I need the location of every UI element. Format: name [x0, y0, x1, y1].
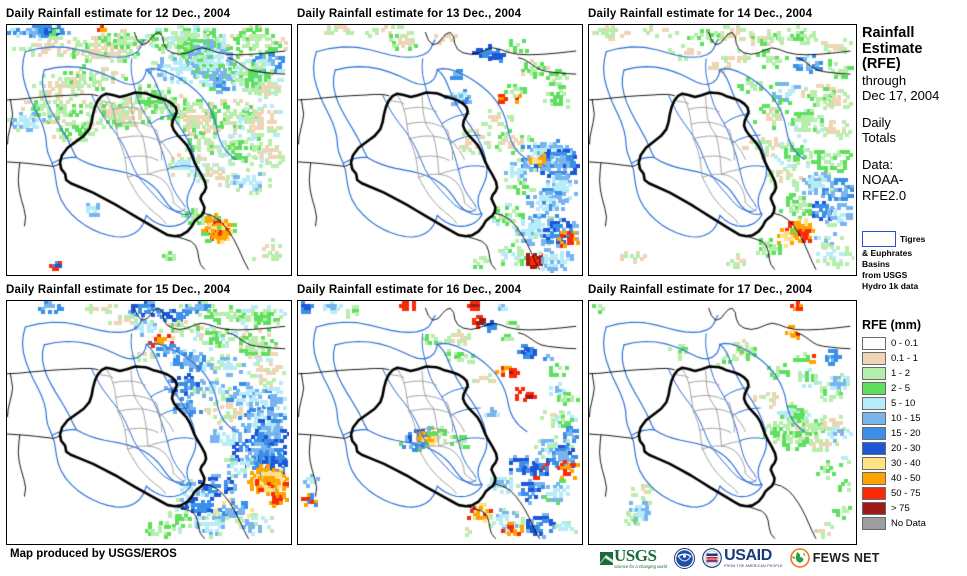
info-totals: Daily Totals: [862, 115, 967, 146]
info-data-line2: NOAA-: [862, 172, 967, 188]
rfe-legend-item: 40 - 50: [862, 471, 967, 486]
fewsnet-logo-text: FEWS NET: [813, 551, 880, 565]
map-frame-14-dec[interactable]: [588, 24, 857, 276]
rfe-legend-item: 10 - 15: [862, 411, 967, 426]
basin-key: Tigres & Euphrates Basins from USGS Hydr…: [862, 230, 967, 292]
usaid-logo-text: USAID: [724, 547, 772, 564]
map-panel-14-dec: Daily Rainfall estimate for 14 Dec., 200…: [588, 6, 812, 22]
info-totals-line1: Daily: [862, 115, 967, 131]
map-credit: Map produced by USGS/EROS: [10, 548, 177, 560]
map-frame-16-dec[interactable]: [297, 300, 583, 545]
map-frame-13-dec[interactable]: [297, 24, 583, 276]
map-frame-12-dec[interactable]: [6, 24, 292, 276]
rfe-legend-item: 20 - 30: [862, 441, 967, 456]
rfe-legend-label: No Data: [891, 518, 926, 529]
panel-title: Daily Rainfall estimate for 13 Dec., 200…: [297, 6, 521, 22]
rfe-legend-label: 0.1 - 1: [891, 353, 918, 364]
info-data-line1: Data:: [862, 157, 967, 173]
info-data-line3: RFE2.0: [862, 188, 967, 204]
info-through: through: [862, 73, 967, 89]
rfe-legend-item: No Data: [862, 516, 967, 531]
rfe-legend-swatch: [862, 457, 886, 470]
usaid-logo-tagline: FROM THE AMERICAN PEOPLE: [724, 564, 783, 568]
rfe-legend-item: 15 - 20: [862, 426, 967, 441]
map-panel-15-dec: Daily Rainfall estimate for 15 Dec., 200…: [6, 282, 230, 298]
map-canvas[interactable]: [298, 301, 580, 542]
rfe-legend-item: 0 - 0.1: [862, 336, 967, 351]
basin-key-line5: Hydro 1k data: [862, 281, 967, 292]
rfe-legend-swatch: [862, 472, 886, 485]
usgs-mark-icon: [600, 551, 613, 566]
fewsnet-logo[interactable]: FEWS NET: [790, 548, 880, 568]
basin-key-row: Tigres: [862, 230, 967, 248]
info-totals-line2: Totals: [862, 130, 967, 146]
rfe-legend-swatch: [862, 517, 886, 530]
usgs-logo-tagline: science for a changing world: [614, 564, 667, 569]
info-title-line1: Rainfall: [862, 26, 967, 42]
rfe-legend-heading: RFE (mm): [862, 318, 967, 332]
usgs-logo-text: USGS: [614, 548, 667, 564]
rfe-legend-swatch: [862, 337, 886, 350]
map-canvas[interactable]: [589, 25, 854, 273]
info-through-date: Dec 17, 2004: [862, 88, 967, 104]
map-panel-13-dec: Daily Rainfall estimate for 13 Dec., 200…: [297, 6, 521, 22]
rfe-legend-swatch: [862, 427, 886, 440]
rfe-legend-item: 2 - 5: [862, 381, 967, 396]
rfe-legend-label: 2 - 5: [891, 383, 910, 394]
map-canvas[interactable]: [589, 301, 854, 542]
rfe-legend-item: 1 - 2: [862, 366, 967, 381]
rfe-legend-swatch: [862, 367, 886, 380]
rfe-map-page: Daily Rainfall estimate for 12 Dec., 200…: [0, 0, 967, 576]
rfe-legend-label: 1 - 2: [891, 368, 910, 379]
map-panel-17-dec: Daily Rainfall estimate for 17 Dec., 200…: [588, 282, 812, 298]
rfe-legend-label: 15 - 20: [891, 428, 921, 439]
basin-key-line4: from USGS: [862, 270, 967, 281]
info-title-line2: Estimate: [862, 42, 967, 58]
rfe-legend-rows: 0 - 0.10.1 - 11 - 22 - 55 - 1010 - 1515 …: [862, 336, 967, 531]
panel-title: Daily Rainfall estimate for 14 Dec., 200…: [588, 6, 812, 22]
usaid-seal-icon: [702, 548, 722, 568]
map-panel-12-dec: Daily Rainfall estimate for 12 Dec., 200…: [6, 6, 230, 22]
usgs-logo[interactable]: USGS science for a changing world: [600, 548, 667, 569]
noaa-logo[interactable]: [674, 548, 695, 569]
logo-strip: USGS science for a changing world: [600, 543, 880, 573]
rfe-legend-label: 50 - 75: [891, 488, 921, 499]
rfe-legend-label: 30 - 40: [891, 458, 921, 469]
basin-key-line2: & Euphrates: [862, 248, 967, 259]
basin-key-line3: Basins: [862, 259, 967, 270]
rfe-legend-swatch: [862, 397, 886, 410]
rfe-legend-swatch: [862, 412, 886, 425]
rfe-legend-item: 5 - 10: [862, 396, 967, 411]
rfe-legend-item: 0.1 - 1: [862, 351, 967, 366]
info-title-line3: (RFE): [862, 57, 967, 73]
rfe-legend-label: 40 - 50: [891, 473, 921, 484]
rfe-legend-item: 30 - 40: [862, 456, 967, 471]
rfe-legend: RFE (mm) 0 - 0.10.1 - 11 - 22 - 55 - 101…: [862, 318, 967, 531]
panel-title: Daily Rainfall estimate for 12 Dec., 200…: [6, 6, 230, 22]
rfe-legend-swatch: [862, 382, 886, 395]
panel-title: Daily Rainfall estimate for 17 Dec., 200…: [588, 282, 812, 298]
rfe-legend-swatch: [862, 502, 886, 515]
panel-title: Daily Rainfall estimate for 16 Dec., 200…: [297, 282, 521, 298]
map-panel-16-dec: Daily Rainfall estimate for 16 Dec., 200…: [297, 282, 521, 298]
rfe-legend-item: 50 - 75: [862, 486, 967, 501]
map-canvas[interactable]: [7, 301, 289, 542]
rfe-legend-swatch: [862, 352, 886, 365]
usaid-logo[interactable]: USAID FROM THE AMERICAN PEOPLE: [702, 548, 783, 568]
rfe-legend-item: > 75: [862, 501, 967, 516]
basin-swatch-label: Tigres: [900, 234, 925, 244]
fewsnet-globe-icon: [790, 548, 810, 568]
panel-title: Daily Rainfall estimate for 15 Dec., 200…: [6, 282, 230, 298]
rfe-legend-label: 10 - 15: [891, 413, 921, 424]
rfe-legend-label: 0 - 0.1: [891, 338, 918, 349]
rfe-legend-label: 5 - 10: [891, 398, 915, 409]
map-canvas[interactable]: [7, 25, 289, 273]
map-frame-15-dec[interactable]: [6, 300, 292, 545]
basin-outline-swatch: [862, 231, 896, 247]
info-data-source: Data: NOAA- RFE2.0: [862, 157, 967, 204]
map-canvas[interactable]: [298, 25, 580, 273]
rfe-legend-label: > 75: [891, 503, 910, 514]
map-frame-17-dec[interactable]: [588, 300, 857, 545]
info-column: Rainfall Estimate (RFE) through Dec 17, …: [862, 26, 967, 203]
rfe-legend-swatch: [862, 442, 886, 455]
rfe-legend-label: 20 - 30: [891, 443, 921, 454]
rfe-legend-swatch: [862, 487, 886, 500]
noaa-seal-icon: [674, 548, 695, 569]
